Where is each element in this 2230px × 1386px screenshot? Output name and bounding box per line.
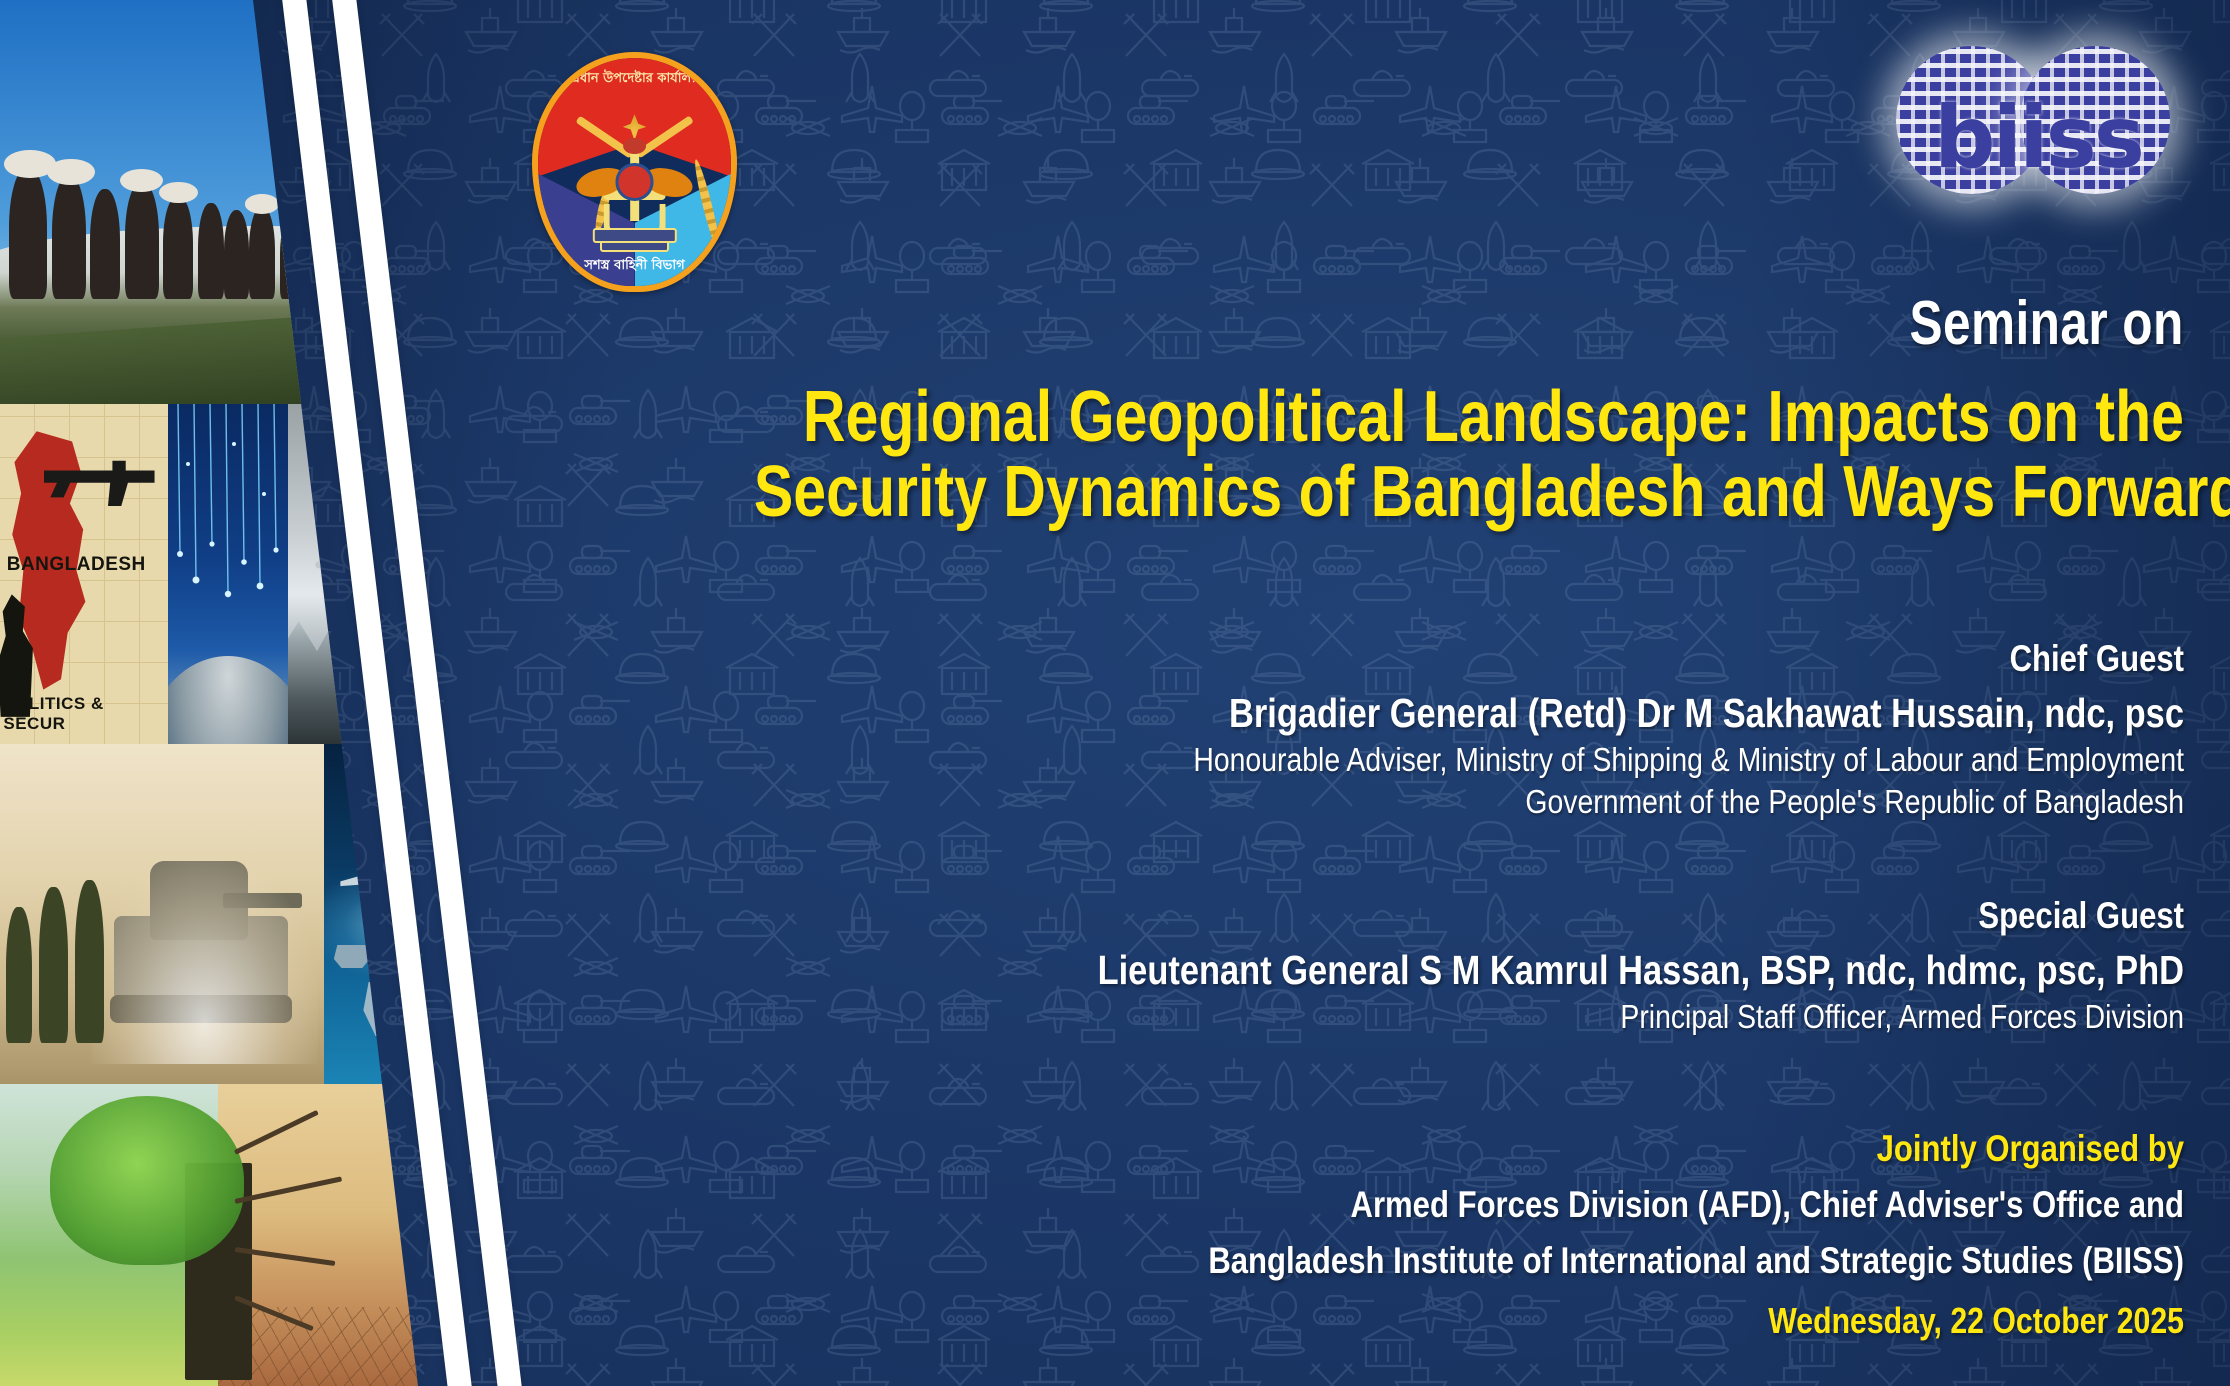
- special-guest-role: Special Guest: [719, 895, 2184, 937]
- content-column: Seminar on Regional Geopolitical Landsca…: [440, 0, 2184, 1386]
- collage-map-text-1: BANGLADESH: [7, 554, 146, 576]
- title-line-1: Regional Geopolitical Landscape: Impacts…: [754, 380, 2184, 455]
- cyber-space-photo: [168, 404, 288, 744]
- organisers-role: Jointly Organised by: [719, 1128, 2184, 1170]
- organiser-line-2: Bangladesh Institute of International an…: [719, 1240, 2184, 1282]
- bangladesh-politics-security-photo: BANGLADESH POLITICS & SECUR: [0, 404, 168, 744]
- soldiers-tank-photo: [0, 744, 324, 1084]
- special-guest-name: Lieutenant General S M Kamrul Hassan, BS…: [719, 947, 2184, 994]
- special-guest-designation: Principal Staff Officer, Armed Forces Di…: [684, 998, 2184, 1036]
- climate-change-photo: [0, 1084, 420, 1386]
- seminar-label: Seminar on: [1910, 288, 2184, 359]
- chief-guest-name: Brigadier General (Retd) Dr M Sakhawat H…: [719, 690, 2184, 737]
- page-title: Regional Geopolitical Landscape: Impacts…: [440, 380, 2184, 530]
- seminar-banner: BANGLADESH POLITICS & SECUR: [0, 0, 2230, 1386]
- chief-guest-designation: Honourable Adviser, Ministry of Shipping…: [684, 741, 2184, 779]
- special-guest-block: Special Guest Lieutenant General S M Kam…: [440, 895, 2184, 1036]
- collage-map-text-2: POLITICS & SECUR: [3, 694, 168, 734]
- chief-guest-role: Chief Guest: [719, 638, 2184, 680]
- organisers-block: Jointly Organised by Armed Forces Divisi…: [440, 1128, 2184, 1342]
- title-line-2: Security Dynamics of Bangladesh and Ways…: [754, 455, 2184, 530]
- chief-guest-block: Chief Guest Brigadier General (Retd) Dr …: [440, 638, 2184, 821]
- chief-guest-government: Government of the People's Republic of B…: [684, 783, 2184, 821]
- event-date: Wednesday, 22 October 2025: [719, 1300, 2184, 1342]
- organiser-line-1: Armed Forces Division (AFD), Chief Advis…: [719, 1184, 2184, 1226]
